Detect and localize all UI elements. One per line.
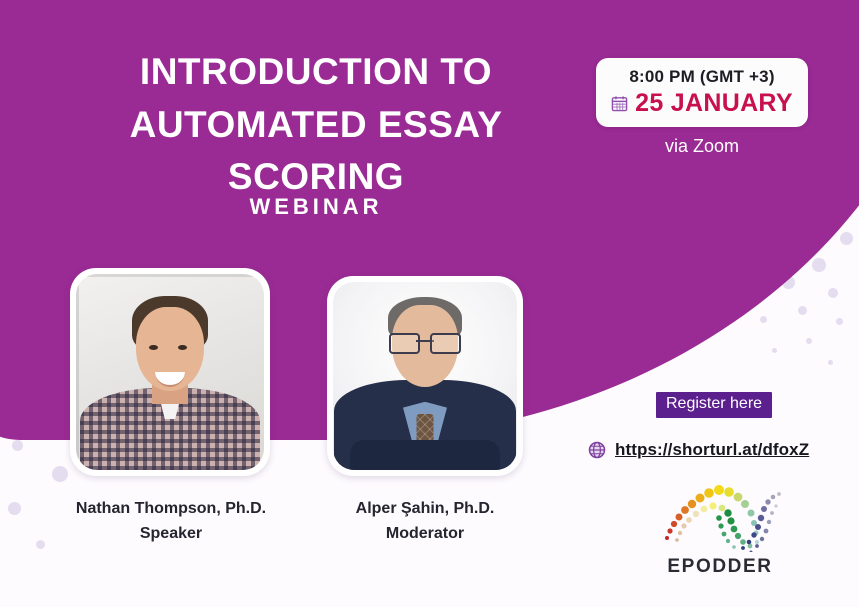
headline-line-1: INTRODUCTION TO bbox=[56, 46, 576, 99]
speaker-photo-frame bbox=[70, 268, 270, 476]
globe-icon bbox=[588, 441, 606, 459]
brand-name: EPODDER bbox=[650, 556, 790, 578]
speaker-name-block: Nathan Thompson, Ph.D. Speaker bbox=[40, 497, 302, 547]
epodder-wave-logo-icon bbox=[655, 468, 785, 552]
event-platform: via Zoom bbox=[596, 136, 808, 157]
headline-line-2: AUTOMATED ESSAY SCORING bbox=[56, 99, 576, 204]
moderator-name-block: Alper Şahin, Ph.D. Moderator bbox=[320, 497, 530, 547]
speaker-photo bbox=[76, 274, 264, 470]
page-title: INTRODUCTION TO AUTOMATED ESSAY SCORING bbox=[56, 46, 576, 204]
moderator-role: Moderator bbox=[320, 522, 530, 547]
speaker-name: Nathan Thompson, Ph.D. bbox=[40, 497, 302, 522]
brand-logo: EPODDER bbox=[650, 468, 790, 588]
moderator-photo-frame bbox=[327, 276, 523, 476]
registration-url-row[interactable]: https://shorturl.at/dfoxZ bbox=[588, 440, 809, 460]
registration-url[interactable]: https://shorturl.at/dfoxZ bbox=[615, 440, 809, 460]
date-time-badge: 8:00 PM (GMT +3) 25 JANUARY bbox=[596, 58, 808, 127]
event-time: 8:00 PM (GMT +3) bbox=[602, 67, 802, 87]
moderator-photo bbox=[333, 282, 517, 470]
event-type-label: WEBINAR bbox=[56, 194, 576, 220]
webinar-poster: INTRODUCTION TO AUTOMATED ESSAY SCORING … bbox=[0, 0, 859, 607]
event-date: 25 JANUARY bbox=[635, 89, 793, 118]
speaker-role: Speaker bbox=[40, 522, 302, 547]
moderator-name: Alper Şahin, Ph.D. bbox=[320, 497, 530, 522]
register-here-button[interactable]: Register here bbox=[656, 392, 772, 418]
calendar-icon bbox=[611, 95, 628, 112]
